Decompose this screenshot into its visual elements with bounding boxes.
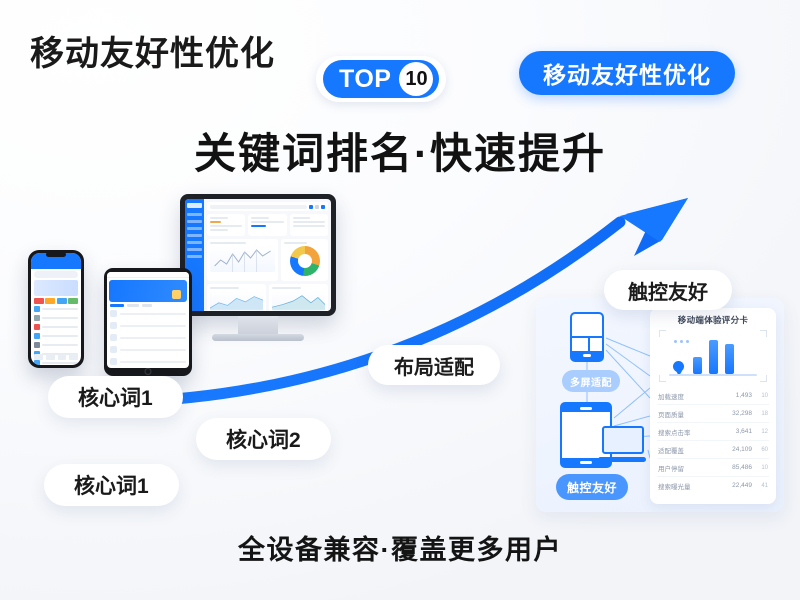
dashboard-ui (185, 199, 331, 311)
chart-bars (669, 332, 757, 374)
dashboard-card (248, 214, 286, 236)
footer-tagline: 全设备兼容·覆盖更多用户 (0, 528, 800, 567)
row-value: 1,493 (730, 392, 752, 399)
row-value: 85,486 (730, 464, 752, 471)
list-item (34, 315, 78, 321)
row-value: 22,449 (730, 482, 752, 489)
monitor-screen (180, 194, 336, 316)
row-value: 32,298 (730, 410, 752, 417)
phone-tabbar[interactable] (34, 354, 78, 360)
touch-friendly-pill: 触控友好 (556, 474, 628, 500)
phone-screen (31, 253, 81, 365)
row-name: 搜索点击率 (658, 427, 726, 437)
row-name: 适配覆盖 (658, 445, 726, 455)
header-tag-pill: 移动友好性优化 (519, 51, 735, 95)
row-delta: 10 (756, 465, 768, 471)
table-row: 搜索点击率 3,641 12 (657, 423, 769, 441)
list-item (34, 360, 78, 365)
table-row: 加载速度 1,493 10 (657, 387, 769, 405)
score-card-title: 移动端体验评分卡 (657, 314, 769, 326)
list-item (34, 333, 78, 339)
page-title: 关键词排名·快速提升 (0, 120, 800, 181)
table-row: 搜索曝光量 22,449 41 (657, 477, 769, 494)
mobile-experience-score-card: 移动端体验评分卡 加载速度 1,493 10 (650, 308, 776, 504)
chart-bar (693, 357, 702, 374)
row-name: 搜索曝光量 (658, 481, 726, 491)
row-name: 页面质量 (658, 409, 726, 419)
mini-laptop-icon (598, 426, 646, 462)
keyword-pill-1: 核心词1 (48, 376, 183, 418)
dashboard-topbar (207, 202, 328, 211)
callout-touch-friendly: 触控友好 (604, 270, 732, 310)
poster-canvas: 移动友好性优化 TOP 10 移动友好性优化 关键词排名·快速提升 (0, 0, 800, 600)
dashboard-donut-card (281, 239, 328, 281)
monitor-stand (238, 316, 278, 336)
phone-mockup (28, 250, 84, 368)
row-value: 24,109 (730, 446, 752, 453)
dashboard-area-card (207, 284, 266, 311)
row-delta: 12 (756, 429, 768, 435)
score-table: 加载速度 1,493 10 页面质量 32,298 18 搜索点击率 3,641… (657, 387, 769, 494)
keyword-pill-3: 核心词1 (44, 464, 179, 506)
dashboard-card (290, 214, 328, 236)
keyword-pill-2: 核心词2 (196, 418, 331, 460)
top-rank-badge-inner: TOP 10 (323, 60, 439, 98)
tablet-banner (109, 280, 187, 302)
top-rank-word: TOP (339, 67, 391, 92)
tablet-home-button (145, 368, 152, 375)
dashboard-main (204, 199, 331, 311)
table-row: 页面质量 32,298 18 (657, 405, 769, 423)
multi-screen-pill: 多屏适配 (562, 370, 620, 392)
search-input[interactable] (34, 271, 78, 278)
area-chart-thumb (210, 291, 263, 311)
monitor-base (212, 334, 304, 341)
table-row: 适配覆盖 24,109 60 (657, 441, 769, 459)
donut-chart-thumb (290, 246, 320, 276)
line-chart-thumb (210, 246, 275, 272)
row-value: 3,641 (730, 428, 752, 435)
row-name: 加载速度 (658, 391, 726, 401)
callout-layout-adaptation: 布局适配 (368, 345, 500, 385)
row-delta: 18 (756, 411, 768, 417)
phone-hero-banner (34, 280, 78, 296)
chart-bar (709, 340, 718, 374)
list-item (110, 322, 186, 329)
dashboard-card (207, 214, 245, 236)
tablet-mockup (104, 268, 192, 376)
phone-notch (46, 252, 66, 257)
chart-bar (725, 344, 734, 374)
desktop-monitor-mockup (180, 194, 336, 346)
row-delta: 60 (756, 447, 768, 453)
table-row: 用户停留 85,486 10 (657, 459, 769, 477)
area-chart-thumb-2 (272, 291, 325, 311)
row-delta: 10 (756, 393, 768, 399)
tablet-screen (107, 272, 189, 368)
dashboard-area-card (269, 284, 328, 311)
list-item (34, 324, 78, 330)
list-item (110, 334, 186, 341)
score-chart (659, 330, 767, 382)
list-item (34, 342, 78, 348)
page-kicker: 移动友好性优化 (30, 26, 275, 75)
touch-friendly-panel: 多屏适配 触控友好 移动端体验评分卡 (536, 298, 784, 512)
row-name: 用户停留 (658, 463, 726, 473)
list-item (110, 346, 186, 353)
list-item (34, 306, 78, 312)
top-rank-number: 10 (399, 62, 433, 96)
dashboard-chart-card (207, 239, 278, 281)
list-item (110, 310, 186, 317)
device-mockup-group (28, 188, 338, 368)
phone-chip-row (34, 298, 78, 304)
mini-phone-icon (570, 312, 604, 362)
row-delta: 41 (756, 483, 768, 489)
tablet-list (110, 310, 186, 368)
list-item (110, 358, 186, 365)
top-rank-badge: TOP 10 (316, 56, 446, 102)
